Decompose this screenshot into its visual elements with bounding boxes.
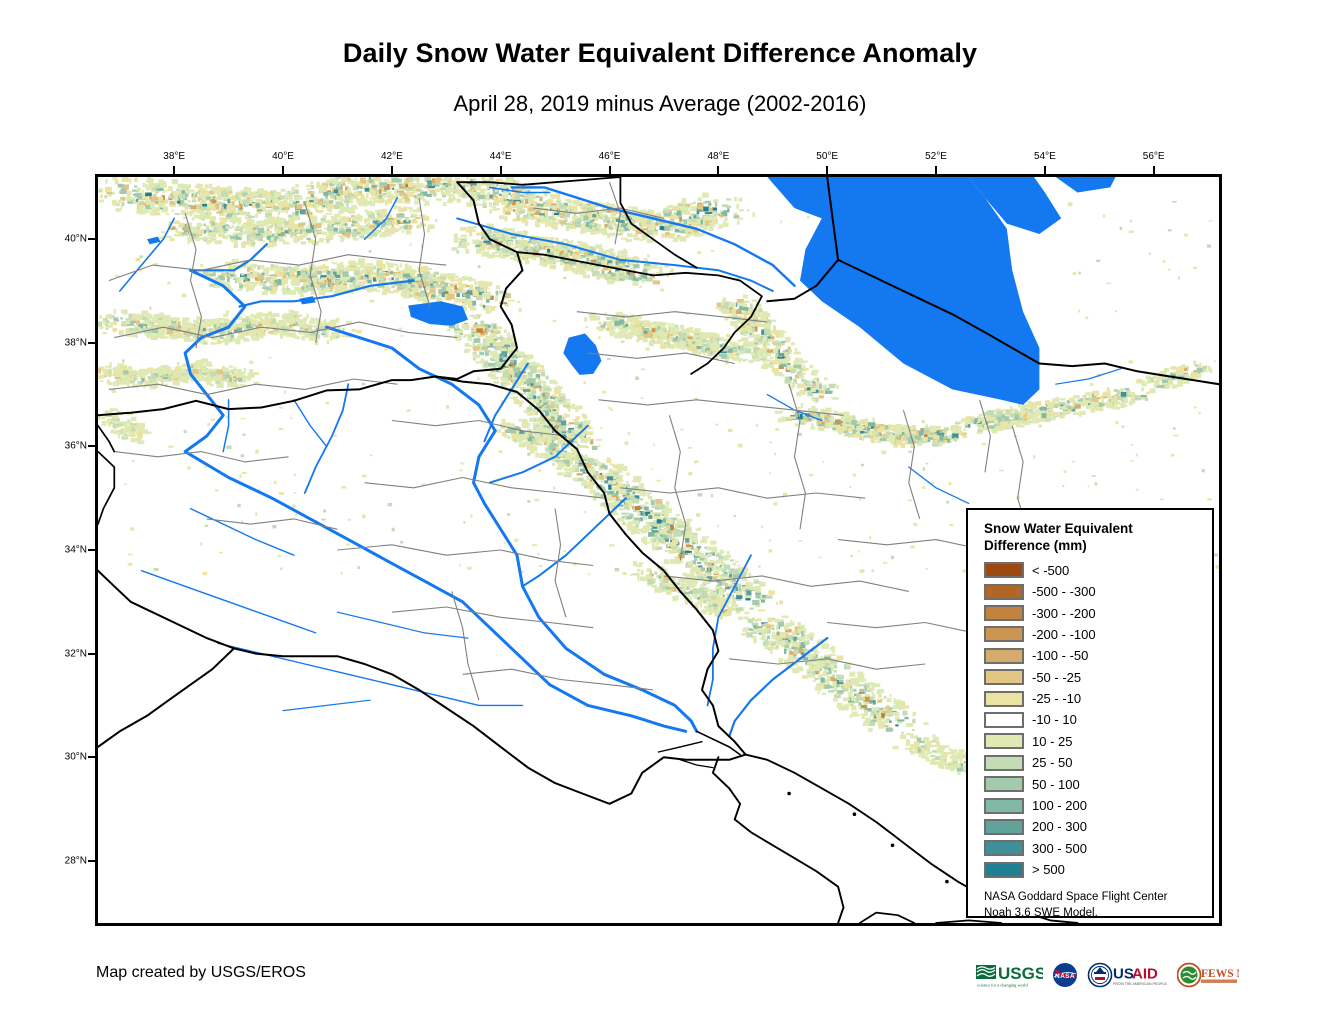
fewsnet-logo: FEWS NET <box>1177 961 1239 991</box>
title-block: Daily Snow Water Equivalent Difference A… <box>0 0 1320 117</box>
gulf-island-2 <box>891 844 895 848</box>
legend-entry: -500 - -300 <box>984 581 1212 602</box>
legend-label: -200 - -100 <box>1032 627 1096 642</box>
lon-tick-label: 54°E <box>1034 151 1056 162</box>
legend-entries: < -500-500 - -300-300 - -200-200 - -100-… <box>984 560 1212 881</box>
legend-source-line2: Noah 3.6 SWE Model. <box>984 906 1199 922</box>
nasa-logo: NASA <box>1049 961 1081 991</box>
legend-entry: -50 - -25 <box>984 666 1212 687</box>
legend-entry: -100 - -50 <box>984 645 1212 666</box>
legend-swatch <box>984 862 1024 878</box>
lon-tick-label: 56°E <box>1143 151 1165 162</box>
legend-entry: -25 - -10 <box>984 688 1212 709</box>
legend-label: -50 - -25 <box>1032 670 1081 685</box>
legend-title-line1: Snow Water Equivalent <box>984 520 1184 537</box>
lat-tick-label: 40°N <box>47 234 87 245</box>
legend-swatch <box>984 562 1024 578</box>
lat-tick-label: 34°N <box>47 545 87 556</box>
legend-label: 10 - 25 <box>1032 734 1072 749</box>
legend-label: < -500 <box>1032 563 1069 578</box>
legend-label: > 500 <box>1032 862 1065 877</box>
legend-swatch <box>984 798 1024 814</box>
legend-swatch <box>984 819 1024 835</box>
legend-label: -10 - 10 <box>1032 712 1077 727</box>
legend-label: 25 - 50 <box>1032 755 1072 770</box>
legend-entry: -300 - -200 <box>984 602 1212 623</box>
legend-label: 300 - 500 <box>1032 841 1087 856</box>
legend-entry: < -500 <box>984 560 1212 581</box>
legend-label: 100 - 200 <box>1032 798 1087 813</box>
legend-source-note: NASA Goddard Space Flight Center Noah 3.… <box>984 890 1199 921</box>
legend-label: -300 - -200 <box>1032 606 1096 621</box>
legend-swatch <box>984 648 1024 664</box>
legend-panel: Snow Water Equivalent Difference (mm) < … <box>966 508 1214 918</box>
lon-tick-label: 46°E <box>599 151 621 162</box>
legend-label: -100 - -50 <box>1032 648 1088 663</box>
legend-label: -25 - -10 <box>1032 691 1081 706</box>
lon-tick-label: 52°E <box>925 151 947 162</box>
lat-tick-label: 28°N <box>47 855 87 866</box>
gulf-island-5 <box>787 792 791 796</box>
lon-tick-label: 38°E <box>163 151 185 162</box>
legend-entry: > 500 <box>984 859 1212 880</box>
logo-bar: USGS science for a changing world NASA U… <box>975 955 1220 997</box>
legend-entry: 10 - 25 <box>984 731 1212 752</box>
legend-source-line1: NASA Goddard Space Flight Center <box>984 890 1199 906</box>
lat-tick-label: 32°N <box>47 648 87 659</box>
legend-entry: 300 - 500 <box>984 838 1212 859</box>
lon-tick-label: 40°E <box>272 151 294 162</box>
legend-entry: 100 - 200 <box>984 795 1212 816</box>
lon-tick-label: 44°E <box>490 151 512 162</box>
legend-swatch <box>984 626 1024 642</box>
legend-title-line2: Difference (mm) <box>984 537 1184 554</box>
gulf-island-1 <box>853 812 857 816</box>
gulf-island-3 <box>945 880 949 884</box>
lon-tick-label: 48°E <box>707 151 729 162</box>
lat-tick-label: 30°N <box>47 752 87 763</box>
page-subtitle: April 28, 2019 minus Average (2002-2016) <box>0 91 1320 117</box>
usaid-logo: US AID FROM THE AMERICAN PEOPLE <box>1087 961 1171 991</box>
legend-swatch <box>984 691 1024 707</box>
lat-tick-label: 36°N <box>47 441 87 452</box>
legend-entry: 25 - 50 <box>984 752 1212 773</box>
usgs-logo: USGS science for a changing world <box>975 961 1043 991</box>
legend-entry: -10 - 10 <box>984 709 1212 730</box>
legend-title: Snow Water Equivalent Difference (mm) <box>984 520 1184 555</box>
legend-swatch <box>984 605 1024 621</box>
legend-swatch <box>984 584 1024 600</box>
legend-swatch <box>984 840 1024 856</box>
legend-swatch <box>984 733 1024 749</box>
lon-tick-label: 50°E <box>816 151 838 162</box>
legend-label: 200 - 300 <box>1032 819 1087 834</box>
map-credit: Map created by USGS/EROS <box>96 964 306 982</box>
lon-tick-label: 42°E <box>381 151 403 162</box>
legend-entry: -200 - -100 <box>984 624 1212 645</box>
legend-swatch <box>984 669 1024 685</box>
legend-label: -500 - -300 <box>1032 584 1096 599</box>
legend-swatch <box>984 755 1024 771</box>
lat-tick-label: 38°N <box>47 337 87 348</box>
legend-swatch <box>984 712 1024 728</box>
legend-entry: 50 - 100 <box>984 773 1212 794</box>
legend-entry: 200 - 300 <box>984 816 1212 837</box>
legend-swatch <box>984 776 1024 792</box>
page-title: Daily Snow Water Equivalent Difference A… <box>0 38 1320 69</box>
legend-label: 50 - 100 <box>1032 777 1080 792</box>
